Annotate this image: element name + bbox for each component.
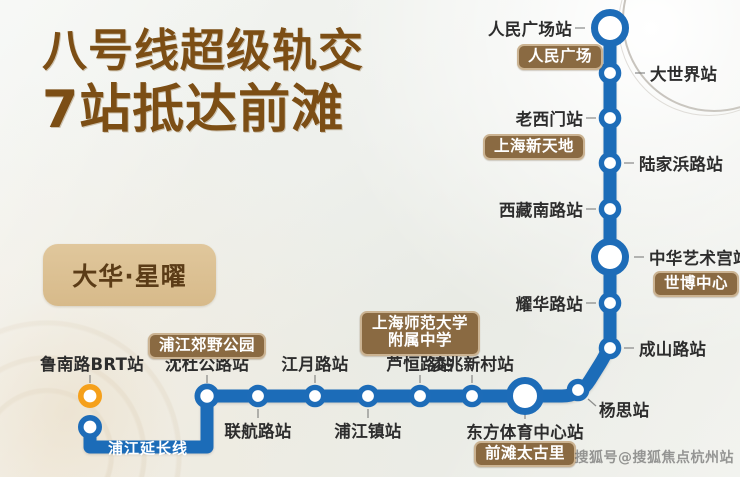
station-label-yangsi: 杨思站: [599, 397, 649, 421]
station-label-chengshan-lu: 成山路站: [639, 336, 706, 360]
station-dot-laoximen[interactable]: [601, 109, 618, 126]
station-dot-chengshan-lu[interactable]: [601, 339, 618, 356]
station-label-zhonghua-yishugong: 中华艺术宫站: [649, 245, 740, 269]
station-label-dashijie: 大世界站: [650, 61, 717, 85]
station-label-laoximen: 老西门站: [516, 106, 583, 130]
station-dot-pujiang-zhen[interactable]: [359, 387, 376, 404]
poi-badge-shida-fuzhong: 上海师范大学 附属中学: [360, 311, 480, 356]
station-dots-termini: [81, 387, 99, 436]
station-dot-lujiabang-lu[interactable]: [601, 154, 618, 171]
project-name-badge: 大华·星曜: [43, 244, 216, 306]
poi-badge-renmin-guangchang: 人民广场: [517, 44, 603, 70]
station-dot-yaohua-lu[interactable]: [601, 294, 618, 311]
station-dot-yangsi[interactable]: [569, 381, 586, 398]
station-dot-lingzhao-xincun[interactable]: [463, 387, 480, 404]
station-dot-zhonghua-yishugong[interactable]: [595, 242, 626, 273]
watermark: 搜狐号@搜狐焦点杭州站: [575, 447, 735, 467]
station-label-lianhang-lu: 联航路站: [224, 418, 291, 442]
station-dot-luheng-lu[interactable]: [411, 387, 428, 404]
station-dot-renmin-guangchang[interactable]: [595, 13, 626, 44]
station-label-yaohua-lu: 耀华路站: [516, 291, 583, 315]
headline-line-2: 7站抵达前滩: [42, 84, 364, 136]
station-dot-lunan-lu-brt[interactable]: [81, 387, 99, 405]
poi-badge-pujiang-jiaoye: 浦江郊野公园: [148, 333, 266, 359]
poi-badge-shibo-zhongxin: 世博中心: [653, 271, 739, 297]
station-label-renmin-guangchang: 人民广场站: [488, 16, 572, 40]
station-label-dongfang-tiyu: 东方体育中心站: [466, 419, 584, 443]
headline-block: 八号线超级轨交 7站抵达前滩: [42, 28, 364, 136]
poi-badge-shida-fuzhong-line1: 上海师范大学: [372, 315, 468, 332]
station-dot-dashijie[interactable]: [601, 64, 618, 81]
station-dot-xizang-nanlu[interactable]: [601, 200, 618, 217]
station-dot-pujiang-branch-end[interactable]: [81, 418, 99, 436]
station-dot-lianhang-lu[interactable]: [249, 387, 266, 404]
headline-line-1: 八号线超级轨交: [42, 28, 364, 73]
station-dot-dongfang-tiyu[interactable]: [510, 381, 541, 412]
poi-badge-qiantan-taikooli: 前滩太古里: [474, 441, 576, 467]
project-name-text: 大华·星曜: [72, 257, 187, 293]
metro-line-poster: 八号线超级轨交 7站抵达前滩 大华·星曜: [0, 0, 740, 477]
station-dot-shendu-gonglu[interactable]: [197, 386, 216, 405]
station-label-jiangyue-lu: 江月路站: [281, 351, 348, 375]
station-label-xizang-nanlu: 西藏南路站: [499, 197, 583, 221]
station-label-lunan-lu-brt: 鲁南路BRT站: [40, 351, 144, 375]
poi-badge-shida-fuzhong-line2: 附属中学: [372, 332, 468, 349]
station-label-lujiabang-lu: 陆家浜路站: [639, 151, 723, 175]
branch-line-label-pujiang: 浦江延长线: [108, 438, 188, 459]
station-dot-jiangyue-lu[interactable]: [306, 387, 323, 404]
station-label-pujiang-zhen: 浦江镇站: [334, 418, 401, 442]
poi-badge-xintiandi: 上海新天地: [483, 134, 585, 160]
